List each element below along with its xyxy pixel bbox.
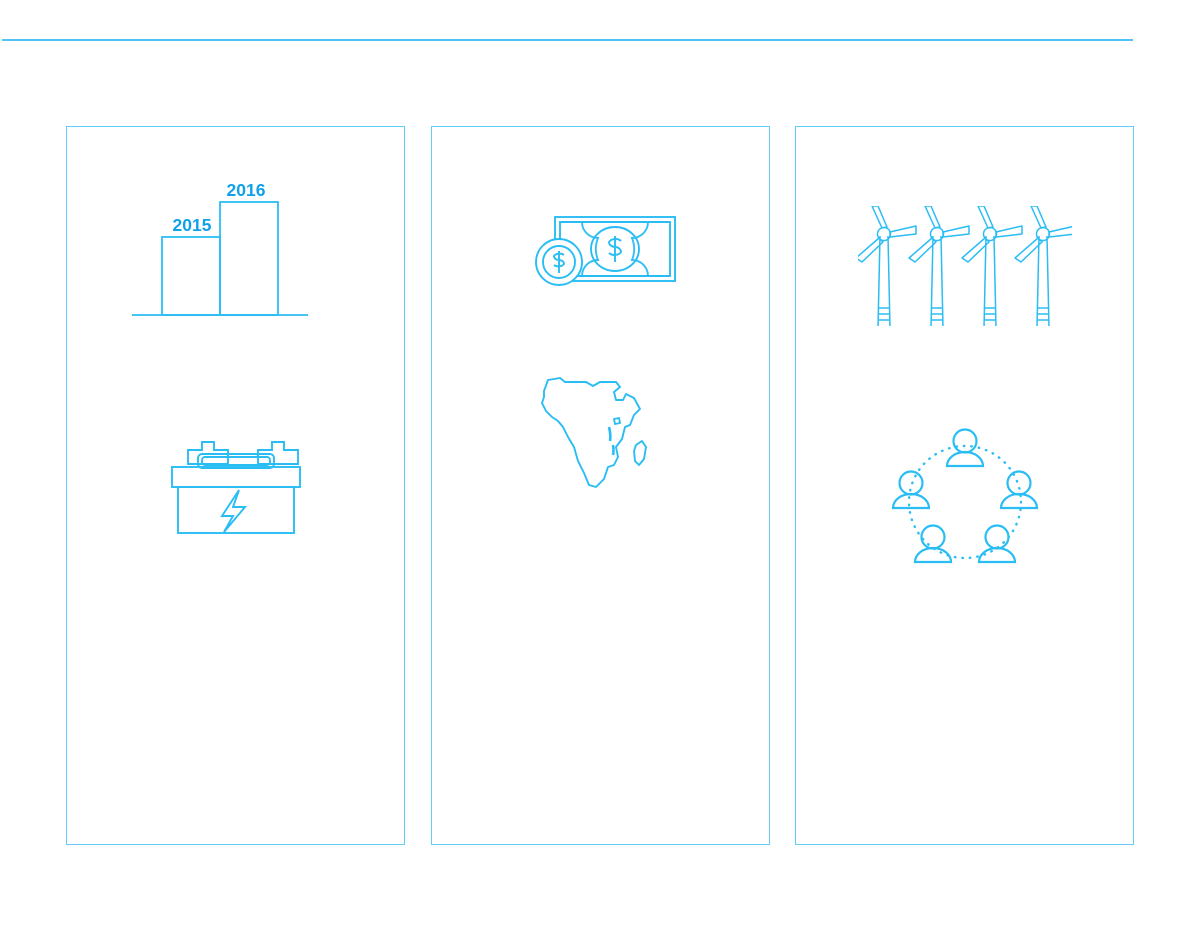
banknote-scallop-right <box>632 222 670 276</box>
wind-turbines-icon <box>858 206 1072 326</box>
infographic-page: 2015 2016 <box>0 0 1200 927</box>
card-column-1: 2015 2016 <box>66 126 405 845</box>
bar-2015 <box>162 237 220 315</box>
africa-continent-outline <box>542 378 640 487</box>
money-icon <box>515 205 685 305</box>
lake-tanganyika <box>609 427 610 441</box>
battery-top-case <box>172 467 300 487</box>
battery-icon <box>161 428 311 540</box>
africa-map-icon <box>530 367 670 495</box>
stat-block-battery <box>67 428 404 576</box>
header-rule <box>2 39 1133 41</box>
person-bottom-left <box>915 526 951 563</box>
battery-terminal-left <box>188 442 228 464</box>
battery-bolt <box>222 490 245 532</box>
person-top <box>947 430 983 467</box>
bar-label-2015: 2015 <box>172 215 211 235</box>
lake-victoria <box>614 418 620 424</box>
card-column-3 <box>795 126 1134 845</box>
stat-block-africa <box>432 367 769 518</box>
bar-2016 <box>220 202 278 315</box>
lake-malawi <box>613 445 614 455</box>
stat-block-solar <box>432 205 769 338</box>
person-bottom-right <box>979 526 1015 563</box>
madagascar-outline <box>634 441 646 465</box>
people-circle-icon <box>889 424 1041 576</box>
connection-circle <box>909 446 1021 558</box>
stat-block-countries <box>796 424 1133 600</box>
bar-chart-icon: 2015 2016 <box>126 174 346 334</box>
banknote-dollar-sign <box>609 236 621 262</box>
stat-block-companies: 2015 2016 <box>67 174 404 365</box>
bar-label-2016: 2016 <box>226 180 265 200</box>
stat-block-china <box>796 206 1133 363</box>
battery-terminal-right <box>258 442 298 464</box>
card-row: 2015 2016 <box>66 126 1134 845</box>
card-column-2 <box>431 126 770 845</box>
